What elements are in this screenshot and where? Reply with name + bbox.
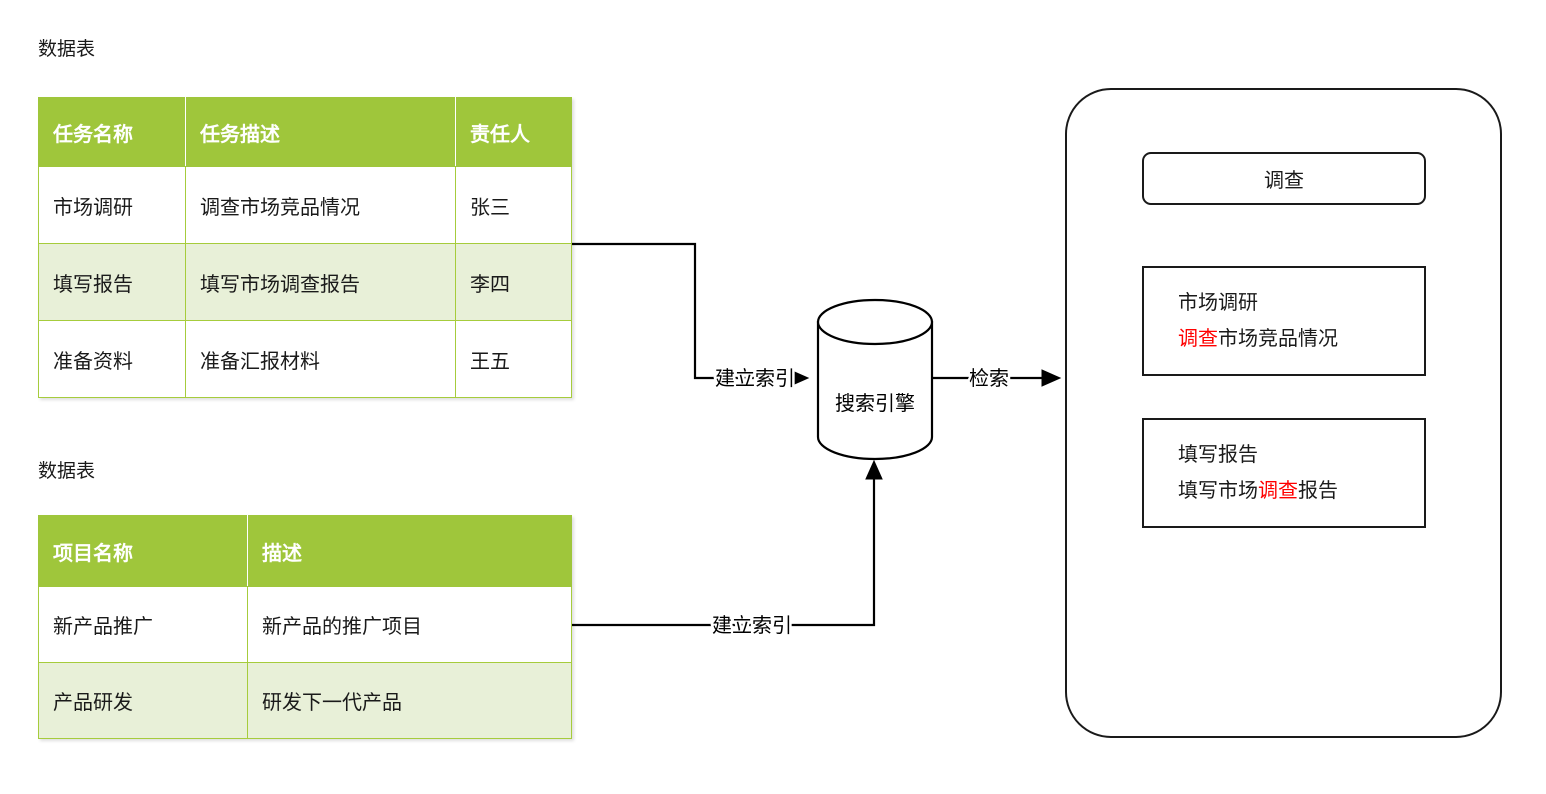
cell-task-desc: 调查市场竞品情况 bbox=[186, 167, 456, 244]
column-header-owner: 责任人 bbox=[456, 98, 572, 167]
result-desc-highlight: 调查 bbox=[1178, 328, 1218, 350]
cell-owner: 张三 bbox=[456, 167, 572, 244]
column-header-project-name: 项目名称 bbox=[39, 516, 248, 587]
table-row: 新产品推广 新产品的推广项目 bbox=[39, 587, 572, 663]
result-description: 调查市场竞品情况 bbox=[1178, 329, 1390, 349]
search-input-value: 调查 bbox=[1264, 164, 1304, 193]
edge-label-index-top: 建立索引 bbox=[715, 367, 795, 390]
cell-project-name: 新产品推广 bbox=[39, 587, 248, 663]
cell-owner: 王五 bbox=[456, 321, 572, 398]
result-desc-suffix: 市场竞品情况 bbox=[1218, 328, 1338, 350]
result-title: 填写报告 bbox=[1178, 445, 1390, 465]
column-header-project-desc: 描述 bbox=[248, 516, 572, 587]
result-description: 填写市场调查报告 bbox=[1178, 481, 1390, 501]
table-2-caption: 数据表 bbox=[38, 462, 95, 481]
result-card[interactable]: 市场调研 调查市场竞品情况 bbox=[1142, 266, 1426, 376]
search-engine-cylinder-top bbox=[818, 300, 932, 344]
result-desc-highlight: 调查 bbox=[1258, 480, 1298, 502]
cell-task-desc: 准备汇报材料 bbox=[186, 321, 456, 398]
cell-project-desc: 研发下一代产品 bbox=[248, 663, 572, 739]
cell-project-name: 产品研发 bbox=[39, 663, 248, 739]
edge-label-retrieve: 检索 bbox=[969, 367, 1009, 390]
cell-task-name: 准备资料 bbox=[39, 321, 186, 398]
table-1-caption: 数据表 bbox=[38, 40, 95, 59]
search-engine-cylinder-body bbox=[818, 322, 932, 459]
search-engine-label: 搜索引擎 bbox=[835, 392, 915, 415]
column-header-task-desc: 任务描述 bbox=[186, 98, 456, 167]
cell-owner: 李四 bbox=[456, 244, 572, 321]
search-input[interactable]: 调查 bbox=[1142, 152, 1426, 205]
result-title: 市场调研 bbox=[1178, 293, 1390, 313]
result-desc-suffix: 报告 bbox=[1298, 480, 1338, 502]
result-card[interactable]: 填写报告 填写市场调查报告 bbox=[1142, 418, 1426, 528]
result-desc-prefix: 填写市场 bbox=[1178, 480, 1258, 502]
table-row: 产品研发 研发下一代产品 bbox=[39, 663, 572, 739]
wire-table1-to-engine bbox=[571, 244, 806, 378]
table-row: 市场调研 调查市场竞品情况 张三 bbox=[39, 167, 572, 244]
cell-task-name: 市场调研 bbox=[39, 167, 186, 244]
project-data-table: 项目名称 描述 新产品推广 新产品的推广项目 产品研发 研发下一代产品 bbox=[38, 515, 572, 739]
table-row: 填写报告 填写市场调查报告 李四 bbox=[39, 244, 572, 321]
edge-label-index-bottom: 建立索引 bbox=[712, 614, 792, 637]
cell-project-desc: 新产品的推广项目 bbox=[248, 587, 572, 663]
cell-task-desc: 填写市场调查报告 bbox=[186, 244, 456, 321]
wire-table2-to-engine bbox=[571, 463, 874, 625]
column-header-task-name: 任务名称 bbox=[39, 98, 186, 167]
task-data-table: 任务名称 任务描述 责任人 市场调研 调查市场竞品情况 张三 填写报告 填写市场… bbox=[38, 97, 572, 398]
table-header-row: 任务名称 任务描述 责任人 bbox=[39, 98, 572, 167]
diagram-canvas: 建立索引 建立索引 检索 搜索引擎 数据表 任务名称 任务描述 责任人 市场调研… bbox=[0, 0, 1546, 794]
cell-task-name: 填写报告 bbox=[39, 244, 186, 321]
table-header-row: 项目名称 描述 bbox=[39, 516, 572, 587]
table-row: 准备资料 准备汇报材料 王五 bbox=[39, 321, 572, 398]
